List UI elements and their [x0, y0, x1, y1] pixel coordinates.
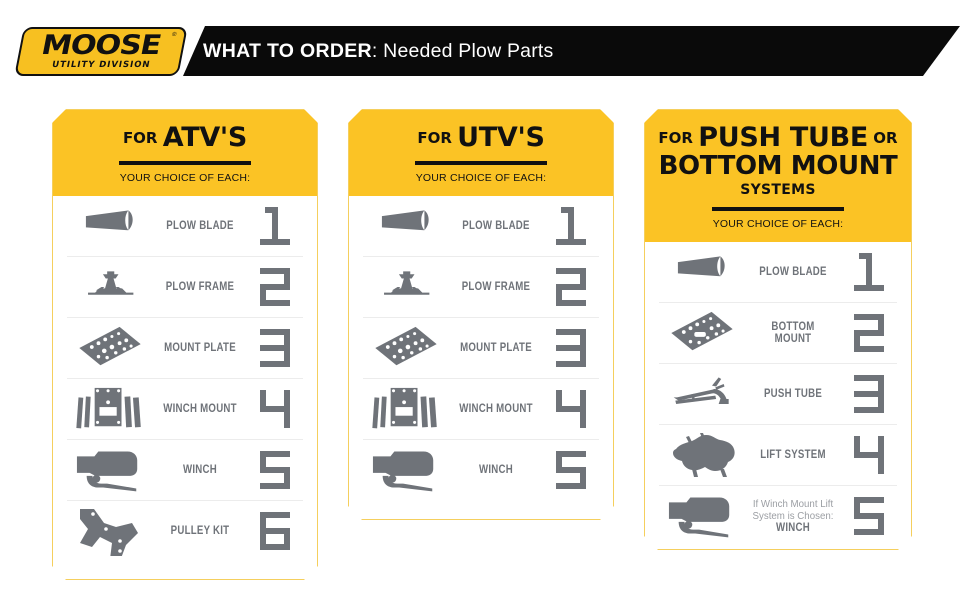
- registered-trademark-icon: ®: [171, 32, 177, 38]
- page-title-rest: : Needed Plow Parts: [372, 40, 554, 62]
- card-utv: FOR UTV'SYOUR CHOICE OF EACH:PLOW BLADEP…: [348, 109, 614, 520]
- push-tube-icon: [659, 366, 745, 422]
- part-number: [543, 390, 599, 428]
- card-title-prefix: FOR: [417, 129, 457, 147]
- part-number: [543, 268, 599, 306]
- part-label: MOUNT PLATE: [457, 342, 536, 354]
- part-label: WINCH: [161, 464, 240, 476]
- card-header-push: FOR PUSH TUBE ORBOTTOM MOUNTSYSTEMSYOUR …: [645, 110, 911, 242]
- list-item[interactable]: WINCH: [67, 439, 303, 500]
- card-header-utv: FOR UTV'SYOUR CHOICE OF EACH:: [349, 110, 613, 196]
- card-title-divider: [119, 161, 251, 165]
- part-number: [247, 329, 303, 367]
- part-label: PLOW BLADE: [753, 266, 834, 278]
- plow-frame-icon: [67, 259, 153, 315]
- parts-list-atv: PLOW BLADEPLOW FRAMEMOUNT PLATEWINCH MOU…: [53, 196, 317, 561]
- list-item[interactable]: PLOW FRAME: [363, 256, 599, 317]
- part-label: LIFT SYSTEM: [753, 449, 834, 461]
- card-title-line1: FOR PUSH TUBE OR: [655, 124, 901, 152]
- part-label: BOTTOM MOUNT: [753, 321, 834, 345]
- logo-wordmark: MOOSE: [39, 33, 162, 59]
- list-item[interactable]: PLOW FRAME: [67, 256, 303, 317]
- list-item[interactable]: WINCH: [363, 439, 599, 500]
- list-item[interactable]: WINCH MOUNT: [363, 378, 599, 439]
- list-item[interactable]: BOTTOM MOUNT: [659, 302, 897, 363]
- list-item[interactable]: PLOW BLADE: [659, 242, 897, 302]
- parts-list-utv: PLOW BLADEPLOW FRAMEMOUNT PLATEWINCH MOU…: [349, 196, 613, 500]
- plow-blade-icon: [659, 244, 745, 300]
- list-item[interactable]: PUSH TUBE: [659, 363, 897, 424]
- card-choice-label: YOUR CHOICE OF EACH:: [359, 172, 603, 184]
- list-item[interactable]: PLOW BLADE: [67, 196, 303, 256]
- list-item[interactable]: WINCH MOUNT: [67, 378, 303, 439]
- pulley-kit-icon: [67, 503, 153, 559]
- part-label: MOUNT PLATE: [161, 342, 240, 354]
- part-label: PLOW FRAME: [457, 281, 536, 293]
- part-label: PULLEY KIT: [161, 525, 240, 537]
- card-choice-label: YOUR CHOICE OF EACH:: [655, 218, 901, 230]
- part-label: WINCH MOUNT: [457, 403, 536, 415]
- list-item[interactable]: PLOW BLADE: [363, 196, 599, 256]
- winch-mount-icon: [67, 381, 153, 437]
- part-number: [841, 314, 897, 352]
- winch-icon: [659, 488, 745, 544]
- plow-frame-icon: [363, 259, 449, 315]
- logo-text-group: MOOSE UTILITY DIVISION: [19, 27, 183, 76]
- part-number: [543, 207, 599, 245]
- part-number: [247, 390, 303, 428]
- card-header-atv: FOR ATV'SYOUR CHOICE OF EACH:: [53, 110, 317, 196]
- part-number: [841, 253, 897, 291]
- page-title-bold: WHAT TO ORDER: [203, 40, 372, 62]
- card-title-prefix: FOR: [123, 129, 163, 147]
- part-number: [247, 268, 303, 306]
- card-title-main: ATV'S: [163, 122, 247, 153]
- winch-icon: [67, 442, 153, 498]
- part-number: [841, 436, 897, 474]
- part-label: PLOW BLADE: [161, 220, 240, 232]
- page-header: MOOSE UTILITY DIVISION ® WHAT TO ORDER: …: [0, 0, 960, 96]
- card-title-line3: SYSTEMS: [655, 183, 901, 198]
- list-item[interactable]: If Winch Mount LiftSystem is Chosen:WINC…: [659, 485, 897, 546]
- part-number: [841, 375, 897, 413]
- part-number: [247, 512, 303, 550]
- part-number: [841, 497, 897, 535]
- moose-logo: MOOSE UTILITY DIVISION ®: [19, 27, 183, 76]
- page-title: WHAT TO ORDER: Needed Plow Parts: [203, 36, 553, 66]
- logo-subtitle: UTILITY DIVISION: [51, 60, 151, 70]
- plow-blade-icon: [363, 198, 449, 254]
- part-label: WINCH: [457, 464, 536, 476]
- mount-plate-icon: [67, 320, 153, 376]
- card-push-tube-bottom-mount: FOR PUSH TUBE ORBOTTOM MOUNTSYSTEMSYOUR …: [644, 109, 912, 550]
- bottom-mount-icon: [659, 305, 745, 361]
- part-number: [247, 207, 303, 245]
- part-label: If Winch Mount LiftSystem is Chosen:WINC…: [753, 498, 834, 534]
- list-item[interactable]: MOUNT PLATE: [67, 317, 303, 378]
- card-title-line2: BOTTOM MOUNT: [655, 153, 901, 180]
- card-title-line1: FOR UTV'S: [359, 124, 603, 152]
- card-title-main: PUSH TUBE: [698, 122, 868, 153]
- part-label: PLOW BLADE: [457, 220, 536, 232]
- card-title-prefix: FOR: [658, 129, 698, 147]
- card-choice-label: YOUR CHOICE OF EACH:: [63, 172, 307, 184]
- plow-blade-icon: [67, 198, 153, 254]
- winch-mount-icon: [363, 381, 449, 437]
- parts-list-push: PLOW BLADEBOTTOM MOUNTPUSH TUBELIFT SYST…: [645, 242, 911, 546]
- part-label-condition: If Winch Mount LiftSystem is Chosen:: [749, 498, 838, 522]
- card-title-main: UTV'S: [457, 122, 544, 153]
- list-item[interactable]: PULLEY KIT: [67, 500, 303, 561]
- mount-plate-icon: [363, 320, 449, 376]
- part-number: [543, 329, 599, 367]
- part-number: [247, 451, 303, 489]
- card-title-suffix: OR: [868, 129, 898, 147]
- lift-system-icon: [659, 427, 745, 483]
- part-label: PLOW FRAME: [161, 281, 240, 293]
- part-label: PUSH TUBE: [753, 388, 834, 400]
- card-title-divider: [415, 161, 547, 165]
- card-title-divider: [712, 207, 844, 211]
- winch-icon: [363, 442, 449, 498]
- part-number: [543, 451, 599, 489]
- list-item[interactable]: LIFT SYSTEM: [659, 424, 897, 485]
- part-label: WINCH MOUNT: [161, 403, 240, 415]
- card-title-line1: FOR ATV'S: [63, 124, 307, 152]
- list-item[interactable]: MOUNT PLATE: [363, 317, 599, 378]
- card-atv: FOR ATV'SYOUR CHOICE OF EACH:PLOW BLADEP…: [52, 109, 318, 580]
